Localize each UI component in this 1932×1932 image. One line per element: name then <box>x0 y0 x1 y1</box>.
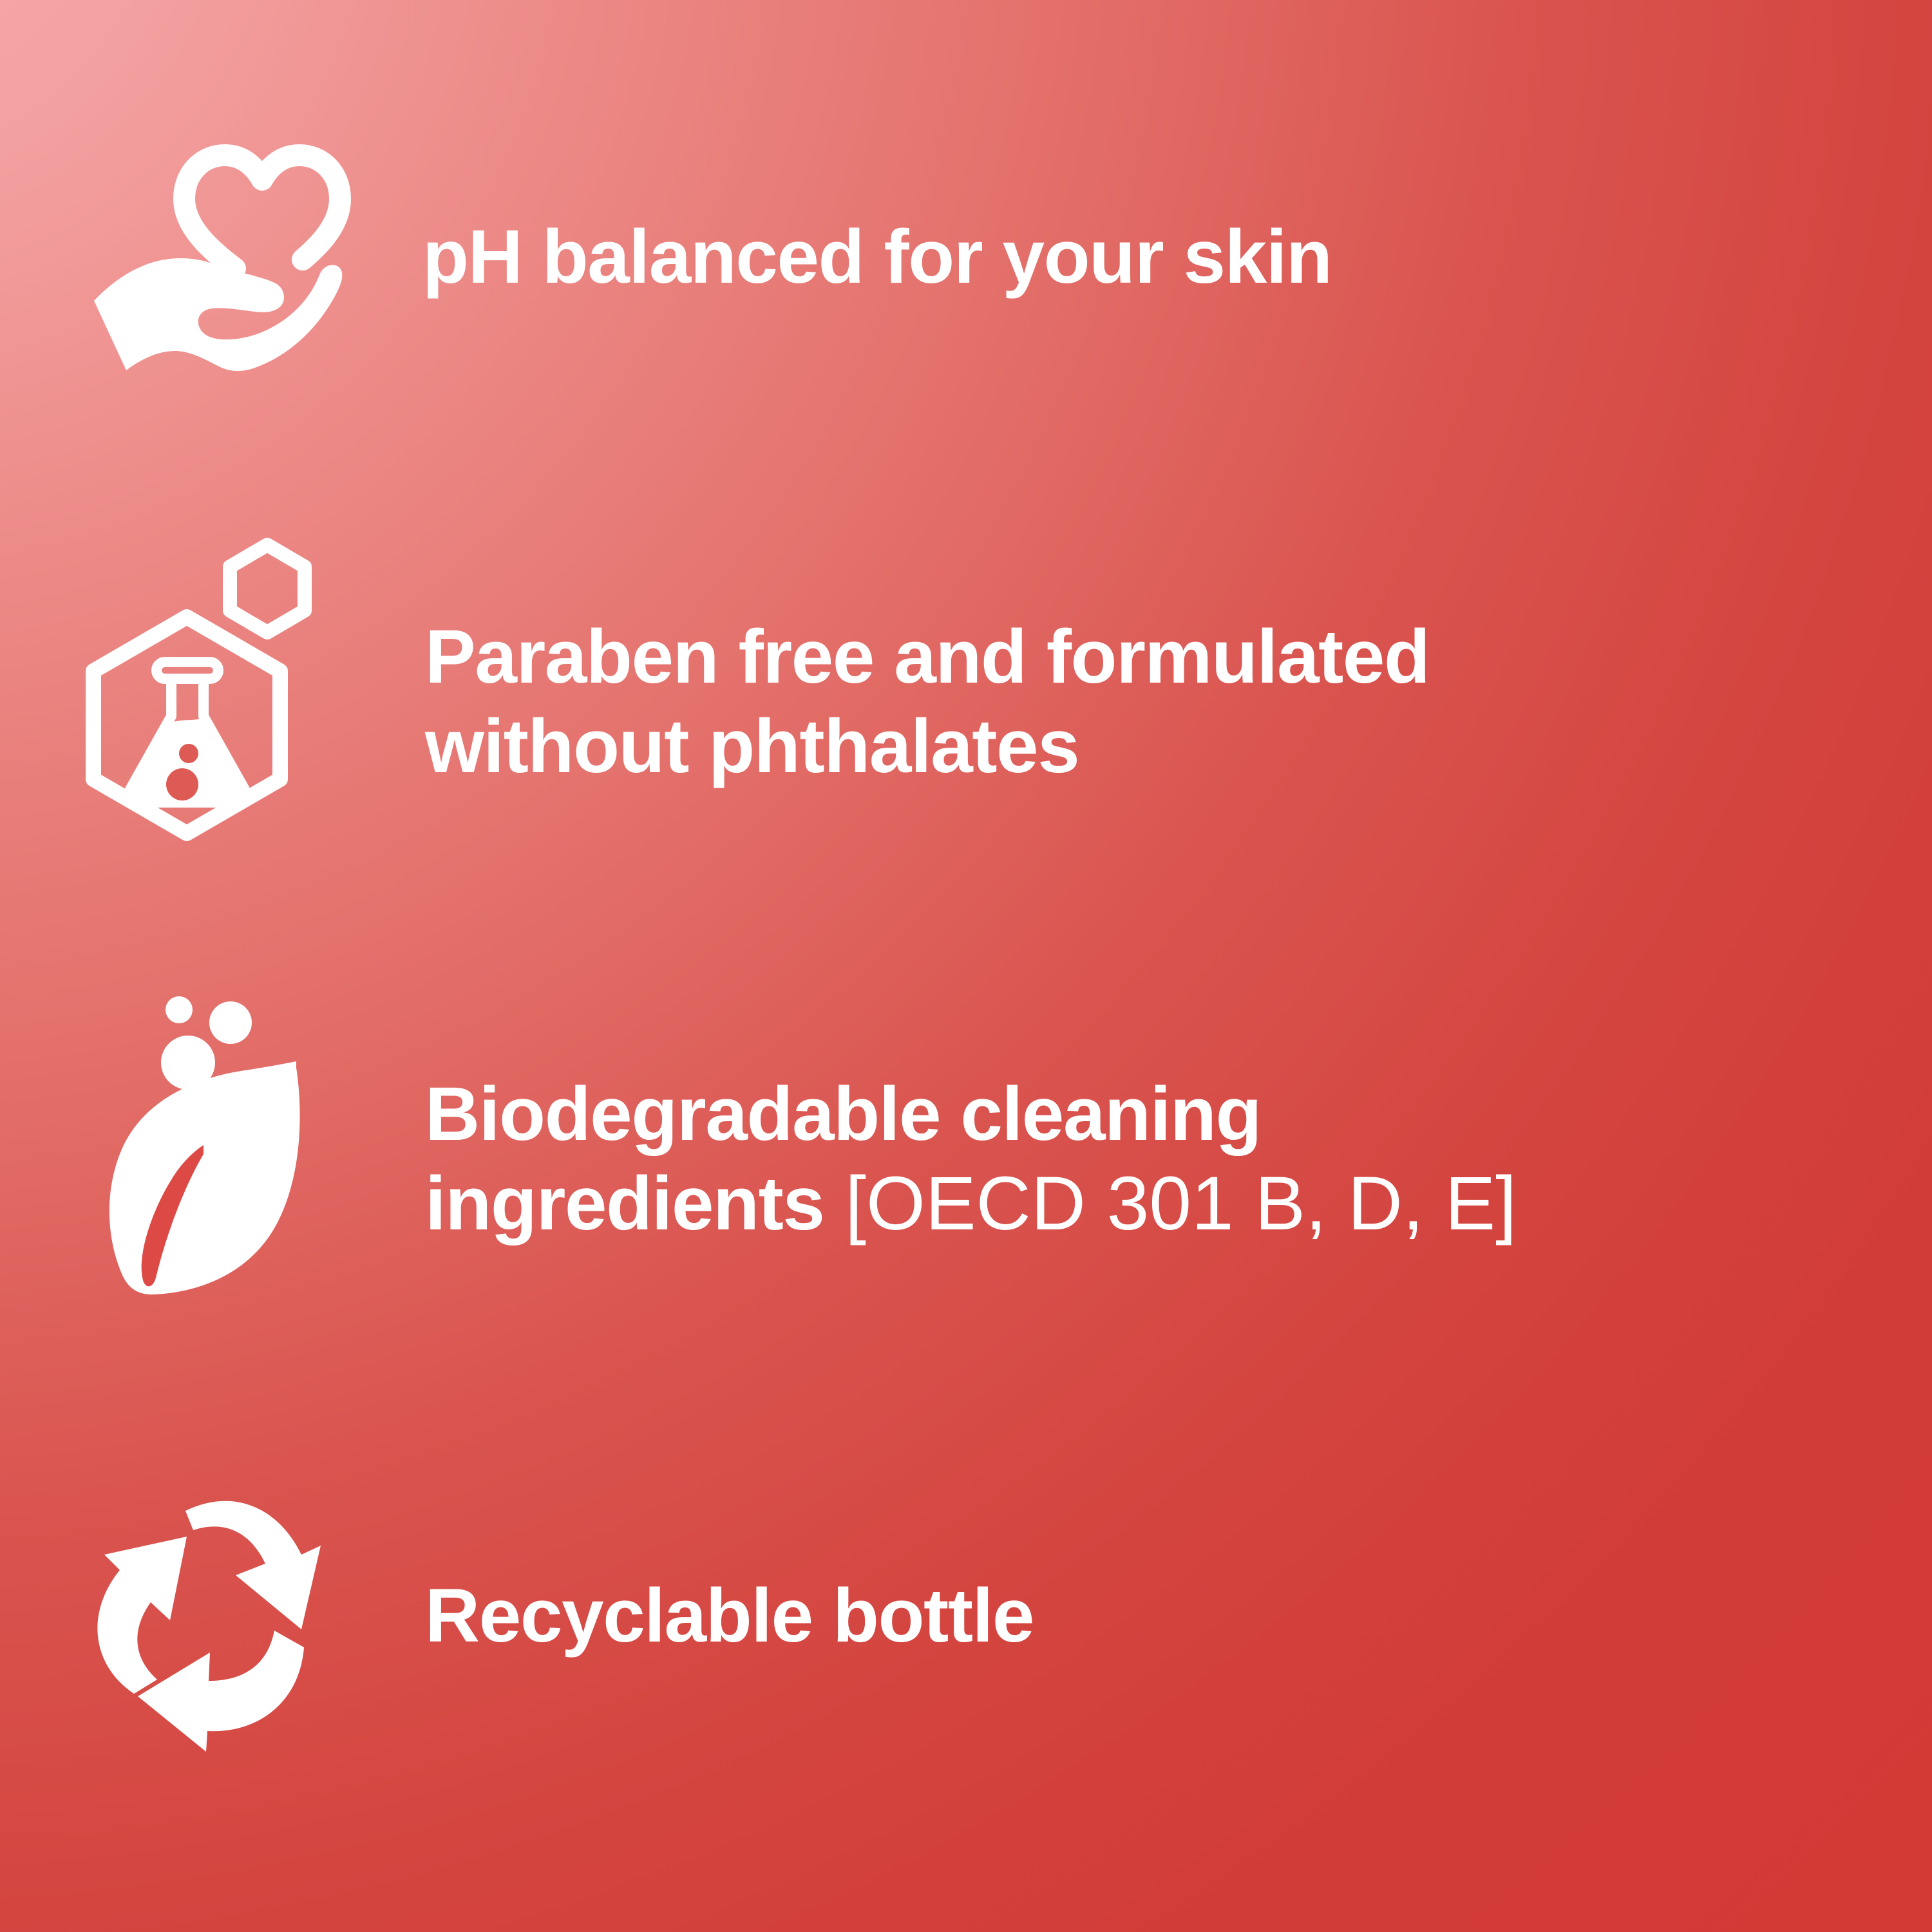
feature-line: ingredients [OECD 301 B, D, E] <box>425 1159 1932 1249</box>
feature-line: Recyclable bottle <box>425 1571 1932 1661</box>
recycle-arrow-left-icon <box>97 1537 187 1694</box>
feature-text-biodegradable: Biodegradable cleaning ingredients [OECD… <box>425 1070 1932 1249</box>
hand-holding-heart-icon <box>0 132 425 383</box>
leaf-with-bubbles-icon <box>0 992 425 1327</box>
feature-row-recyclable-bottle: Recyclable bottle <box>0 1436 1932 1797</box>
feature-line: without phthalates <box>425 702 1932 791</box>
feature-line-reference: [OECD 301 B, D, E] <box>824 1161 1516 1246</box>
feature-line-main: ingredients <box>425 1161 824 1246</box>
small-hexagon-icon <box>230 545 305 632</box>
feature-line: pH balanced for your skin <box>422 213 1932 302</box>
feature-row-ph-balanced: pH balanced for your skin <box>0 116 1932 399</box>
feature-row-paraben-free: Paraben free and formulated without phth… <box>0 522 1932 882</box>
flask-bubble-small-icon <box>179 744 198 763</box>
feature-text-recyclable-bottle: Recyclable bottle <box>425 1571 1932 1661</box>
recycling-arrows-icon <box>0 1481 425 1752</box>
product-benefits-panel: pH balanced for your skin Parab <box>0 0 1932 1932</box>
recycle-arrow-bottom-icon <box>138 1631 304 1752</box>
bubble-small-icon <box>166 996 193 1023</box>
feature-line: Paraben free and formulated <box>425 612 1932 702</box>
feature-text-ph-balanced: pH balanced for your skin <box>422 213 1932 302</box>
flask-bubble-large-icon <box>166 768 198 800</box>
flask-in-hexagon-icon <box>0 541 425 863</box>
feature-row-biodegradable: Biodegradable cleaning ingredients [OECD… <box>0 966 1932 1352</box>
recycle-arrow-right-icon <box>185 1501 321 1629</box>
feature-line: Biodegradable cleaning <box>425 1070 1932 1159</box>
bubble-medium-icon <box>209 1001 252 1044</box>
feature-text-paraben-free: Paraben free and formulated without phth… <box>425 612 1932 791</box>
